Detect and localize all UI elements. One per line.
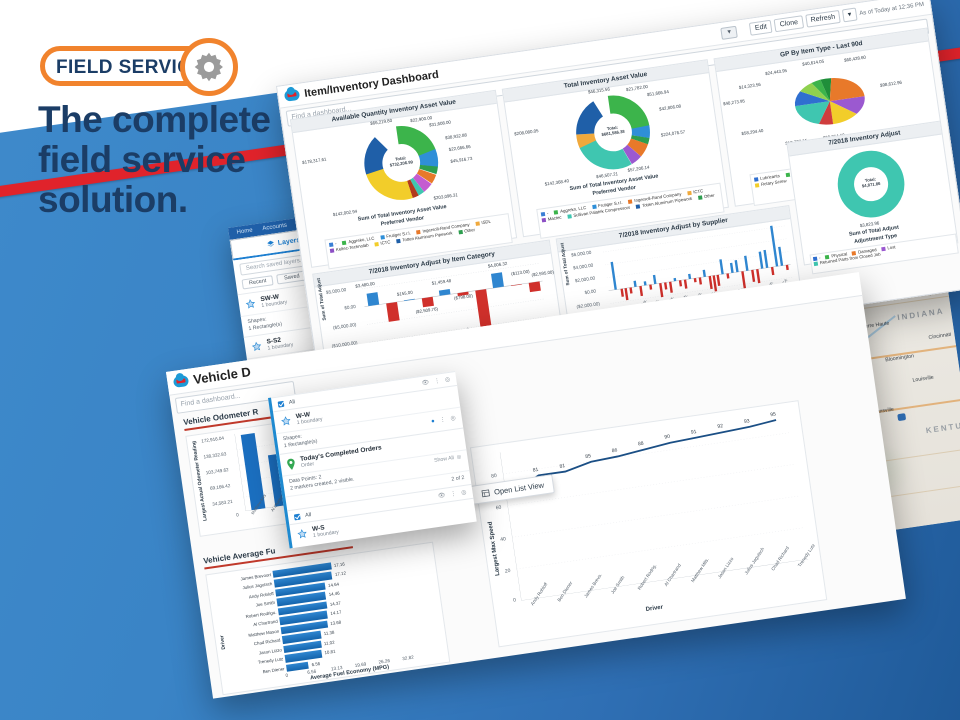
eye-icon[interactable]: 👁: [421, 379, 430, 387]
layer-actions[interactable]: 👁⋮◎: [437, 489, 467, 500]
slice-label: $224,076.57: [661, 129, 686, 137]
show-all-link[interactable]: Show All: [434, 455, 455, 465]
y-tick: 0: [513, 597, 517, 603]
more-icon[interactable]: ⋮: [450, 490, 457, 498]
legend-item: Lost: [881, 244, 896, 251]
y-tick: $5,000.00: [326, 287, 347, 295]
card-largest-max-speed[interactable]: Largest Max Speed 80 60 40 20 0 72818185…: [470, 400, 827, 647]
speed-point-label: 95: [770, 411, 776, 418]
more-icon[interactable]: ⋮: [439, 416, 446, 424]
slice-label: $142,368.40: [544, 178, 569, 186]
y-tick: $0.00: [344, 304, 356, 311]
y-tick: ($5,000.00): [333, 322, 357, 330]
y-tick: 138,332.83: [203, 451, 226, 459]
fuel-value-label: 10.81: [324, 647, 336, 658]
legend-item: Other: [698, 193, 715, 200]
y-axis-label: Largest Max Speed: [488, 521, 502, 576]
slice-label: $142,002.94: [333, 209, 358, 217]
card-inventory-adjust-donut[interactable]: 7/2018 Inventory Adjust Total: $4,871.86…: [786, 121, 958, 266]
checkbox-all[interactable]: [278, 400, 285, 407]
card-available-quantity[interactable]: Available Quantity Inventory Asset Value: [290, 90, 517, 268]
open-list-view-label: Open List View: [493, 480, 544, 496]
headline-line-1: The complete: [38, 100, 308, 140]
speed-point-label: 91: [691, 428, 697, 435]
dashboard-select[interactable]: ▾: [721, 25, 739, 39]
legend-item: Other: [458, 227, 475, 234]
slice-label: $38,932.88: [445, 132, 467, 140]
slice-label: $42,806.08: [659, 103, 681, 111]
refresh-button[interactable]: Refresh: [805, 10, 841, 28]
y-tick: 103,749.62: [205, 467, 228, 475]
star-icon: [280, 415, 292, 427]
chip-recent[interactable]: Recent: [241, 275, 274, 289]
target-icon[interactable]: ◎: [445, 376, 451, 384]
checkbox-all[interactable]: [294, 513, 301, 520]
fuel-value-label: 13.68: [330, 617, 342, 628]
slice-label: $51,666.94: [647, 89, 669, 97]
y-tick: 34,583.21: [212, 499, 233, 507]
fuel-value-label: 17.12: [334, 569, 346, 580]
speed-point-label: 81: [532, 466, 538, 473]
speed-point-label: 85: [585, 453, 591, 460]
y-axis-label: Largest Actual Odometer Reading: [191, 441, 208, 522]
highway-shield: [897, 413, 906, 421]
y-tick: 69,166.42: [210, 483, 231, 491]
target-icon[interactable]: ◎: [450, 415, 456, 423]
more-button[interactable]: ▾: [842, 8, 857, 23]
gear-icon: [192, 50, 226, 84]
speed-point-label: 81: [559, 463, 565, 470]
x-axis-label: Driver: [645, 605, 663, 613]
eye-icon[interactable]: 👁: [437, 492, 446, 500]
edit-button[interactable]: Edit: [749, 20, 773, 36]
slice-label: $178,317.61: [302, 157, 327, 165]
speed-point-label: 86: [611, 447, 617, 454]
y-tick: 20: [505, 568, 511, 575]
legend-item: ISDL: [475, 219, 491, 226]
headline: The complete field service solution.: [38, 100, 308, 220]
x-tick: 32.82: [402, 655, 414, 662]
speed-point-label: 90: [664, 434, 670, 441]
y-tick: $2,000.00: [574, 275, 595, 283]
y-tick: 40: [500, 536, 506, 543]
slice-label: $40,273.95: [723, 98, 745, 106]
nav-item-accounts[interactable]: Accounts: [262, 223, 287, 232]
headline-line-2: field service: [38, 140, 308, 180]
vehicle-dashboard-title: Vehicle D: [192, 364, 251, 387]
y-tick: $6,000.00: [571, 250, 592, 258]
star-icon: [244, 298, 256, 310]
target-icon[interactable]: ◎: [456, 454, 461, 462]
nav-item-home[interactable]: Home: [236, 228, 253, 236]
brand-logo: FIELD SERVICE: [40, 38, 250, 93]
y-tick: $0.00: [584, 288, 596, 295]
all-label: All: [305, 512, 312, 519]
star-icon: [296, 528, 308, 540]
layers-panel-front[interactable]: All 👁⋮◎ W-W 1 boundary Shapes: 1 Rectang…: [268, 371, 477, 548]
slice-label: $45,916.73: [450, 156, 472, 164]
slice-label: $14,323.56: [739, 82, 761, 90]
star-icon: [250, 340, 262, 352]
y-tick: 172,916.04: [201, 435, 224, 443]
x-tick: 0: [285, 673, 288, 678]
slice-label: $58,294.40: [741, 128, 763, 136]
as-of-label: As of Today at 12:36 PM: [859, 1, 924, 16]
slice-label: $208,080.05: [514, 128, 539, 136]
speed-point-label: 88: [638, 441, 644, 448]
y-tick: 80: [491, 473, 497, 480]
headline-line-3: solution.: [38, 180, 308, 220]
y-tick: 0: [236, 512, 239, 517]
layer-actions[interactable]: 👁⋮◎: [421, 376, 451, 387]
app-logo-icon: [284, 89, 300, 102]
more-icon[interactable]: ⋮: [434, 377, 441, 385]
clone-button[interactable]: Clone: [774, 15, 804, 32]
layer-actions[interactable]: ●⋮◎: [431, 415, 457, 425]
y-axis-label: Driver: [219, 635, 227, 650]
y-tick: 60: [495, 505, 501, 512]
layers-icon: [266, 240, 275, 249]
y-tick: ($2,000.00): [576, 301, 600, 309]
list-icon: [481, 488, 491, 498]
slice-label: $98,612.96: [880, 80, 902, 88]
pin-icon: [286, 457, 297, 470]
app-logo-icon: [173, 375, 189, 388]
all-label: All: [288, 399, 295, 406]
target-icon[interactable]: ◎: [461, 489, 467, 497]
card-total-asset-value[interactable]: Total Inventory Asset Value Total:: [502, 59, 729, 237]
line-chart-max-speed: [500, 411, 808, 601]
speed-point-label: 93: [744, 418, 750, 425]
legend-item: ICTC: [374, 239, 391, 246]
card-vehicle-fuel-economy[interactable]: Vehicle Average Fu Driver James Brevoort…: [203, 524, 450, 691]
marker-icon[interactable]: ●: [431, 418, 436, 425]
speed-point-label: 92: [717, 423, 723, 430]
y-tick: $4,000.00: [573, 263, 594, 271]
slice-label: $22,666.66: [448, 144, 470, 152]
